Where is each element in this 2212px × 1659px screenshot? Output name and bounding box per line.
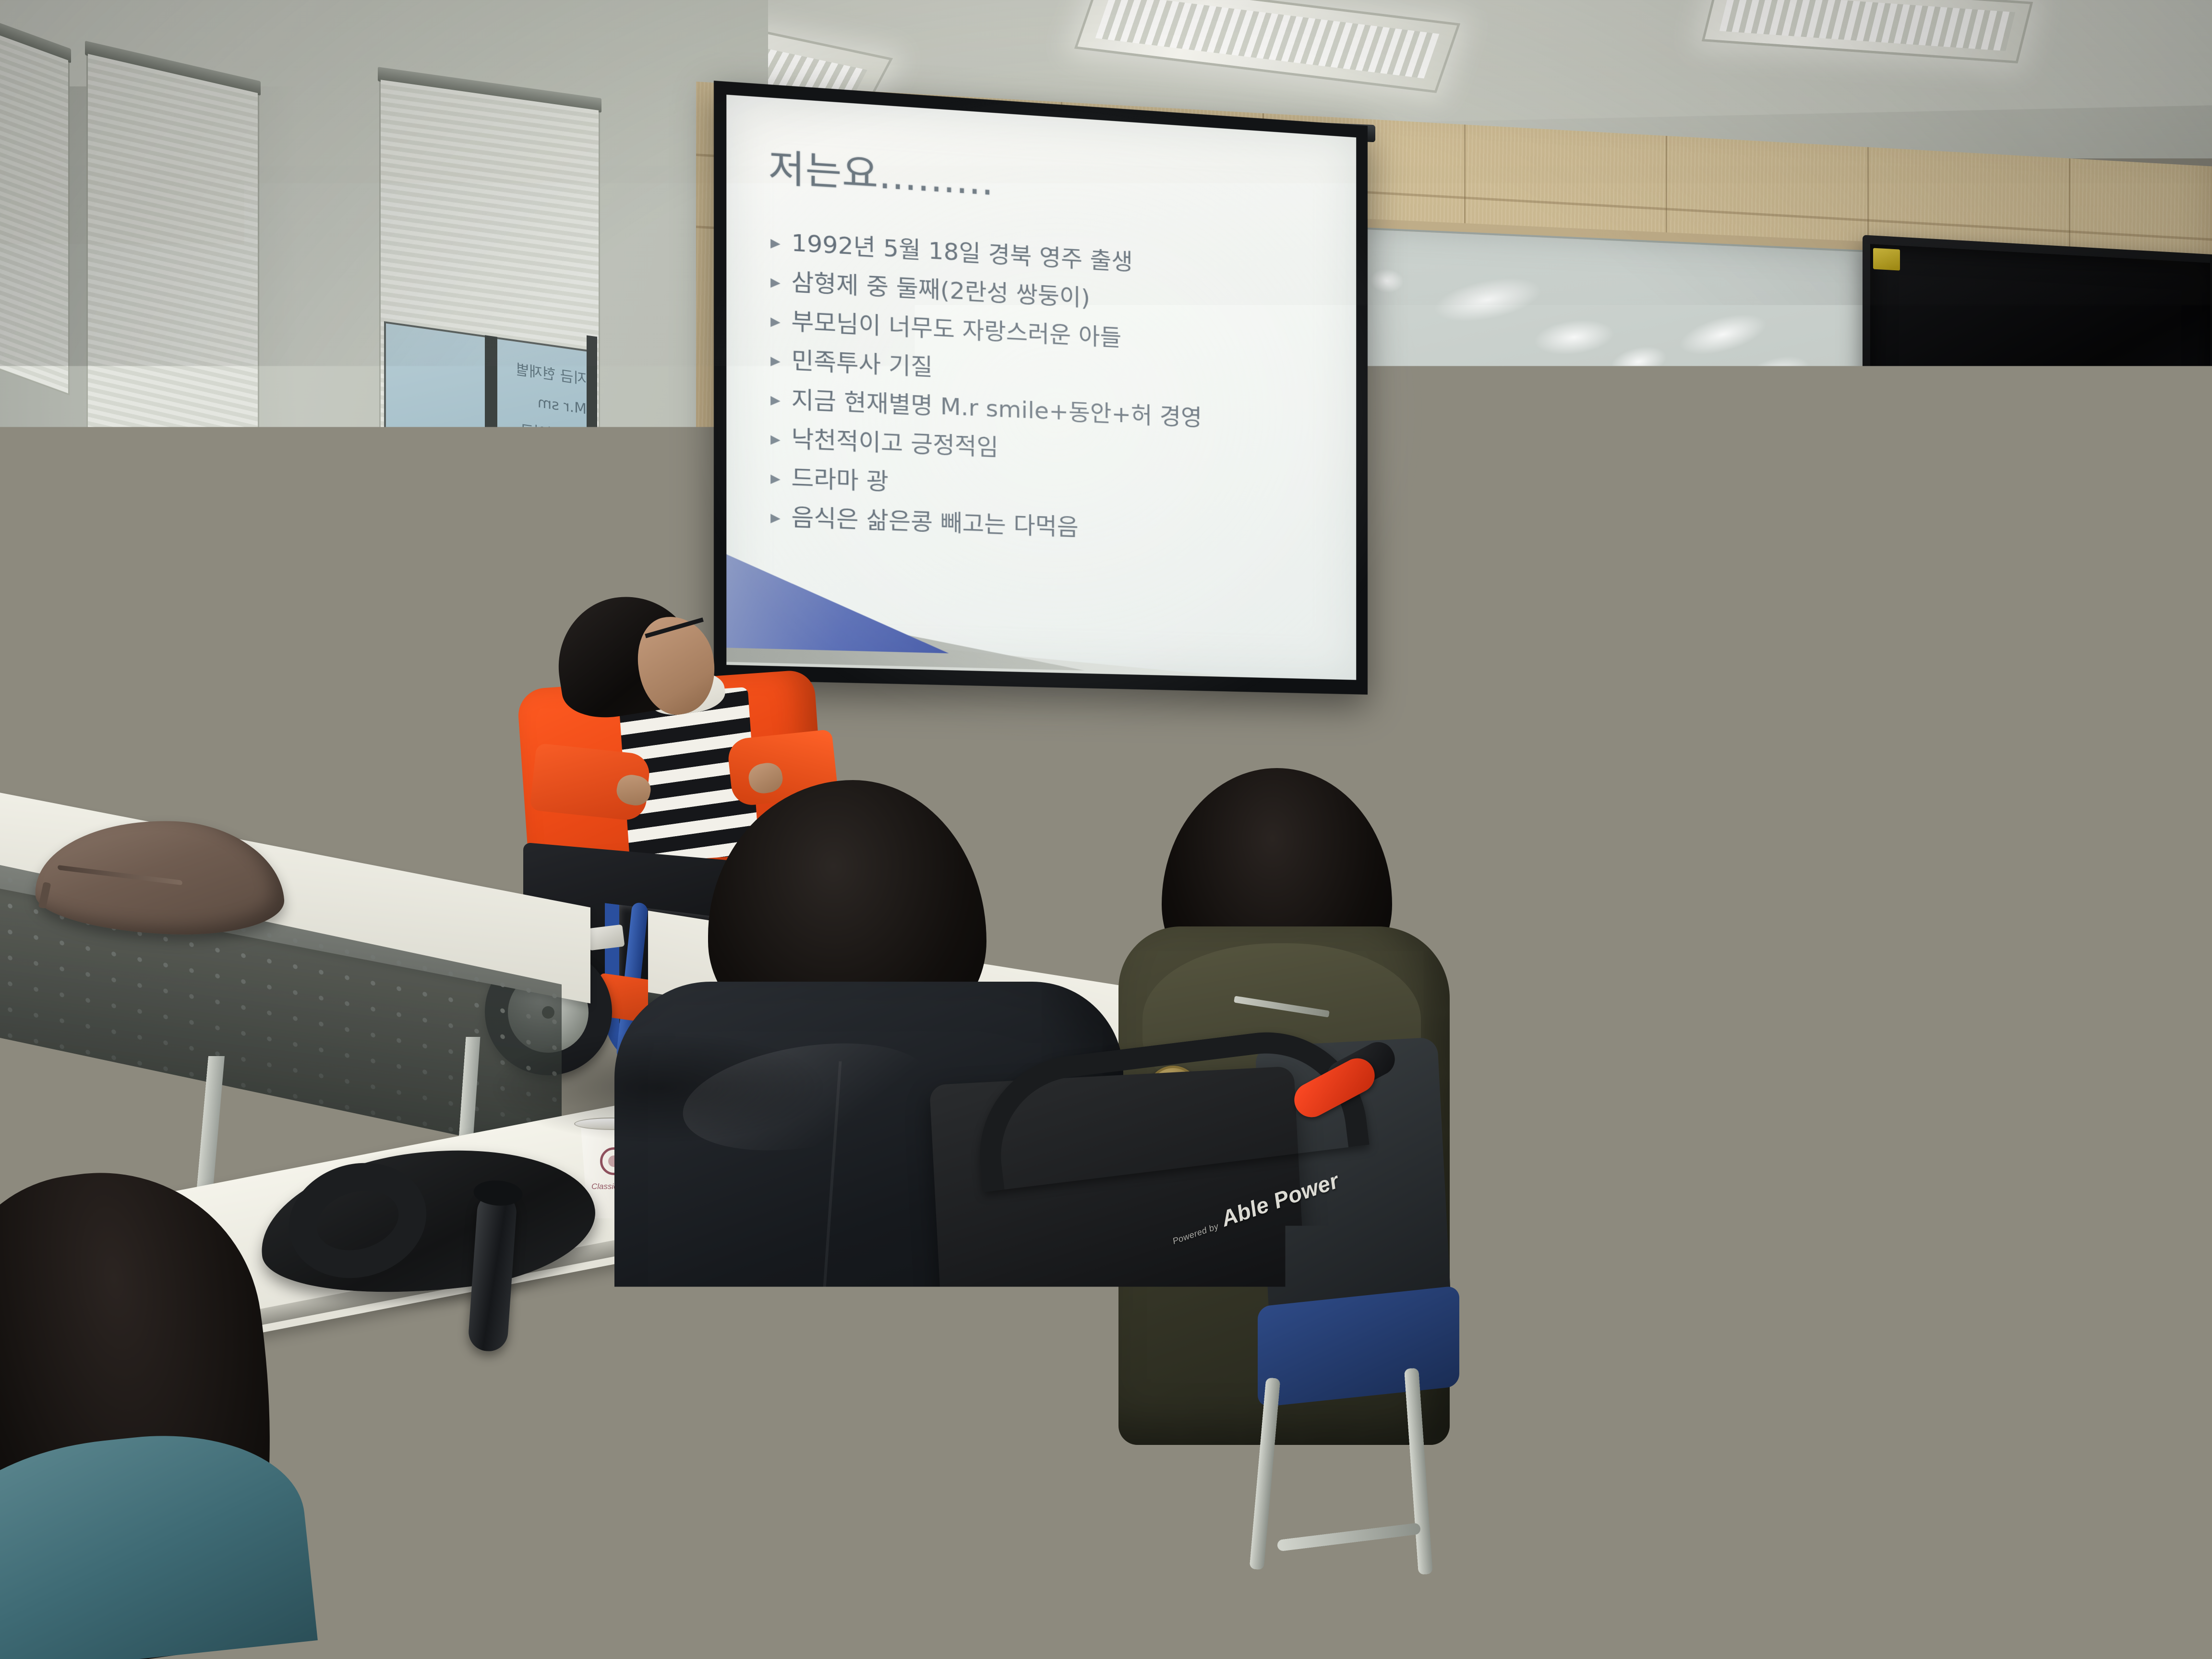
marker-red[interactable] (1411, 705, 1438, 714)
whiteboard-glare (1531, 315, 1617, 359)
ground-shadow (490, 1032, 826, 1142)
tv-brand-label: SAMSUNG (2026, 455, 2065, 465)
whiteboard (1339, 226, 1901, 722)
lectern-speaker-grille (1678, 910, 1810, 1038)
lectern-lock[interactable] (1900, 784, 1918, 803)
tv-energy-label (1873, 248, 1900, 271)
window-mullion (485, 335, 497, 606)
whiteboard-glare (1370, 268, 1404, 293)
classroom-photo: 지금 현재별 M.r sm 현재적이고 드라마 광 빼고는 음식은 삶 (0, 0, 2212, 1659)
cup-label: Classic (591, 1182, 618, 1191)
roller-blind (88, 54, 258, 522)
roller-blind (0, 29, 68, 393)
lectern[interactable] (1618, 666, 1983, 1226)
window-blind (0, 27, 70, 395)
power-outlet (974, 799, 999, 842)
window-mullion (587, 335, 597, 605)
facilitator-hair (2139, 386, 2212, 473)
lectern-lock[interactable] (1665, 757, 1683, 776)
facilitator-shoe (2048, 1281, 2205, 1354)
slide-title: 저는요......... (769, 137, 994, 206)
projection-screen: 저는요......... 1992년 5월 18일 경북 영주 출생 삼형제 중… (714, 81, 1368, 695)
lectern-speaker-grille (1817, 925, 1949, 1053)
window-blind (86, 52, 259, 524)
slide-surface: 저는요......... 1992년 5월 18일 경북 영주 출생 삼형제 중… (726, 95, 1356, 680)
wheelchair-knob[interactable] (912, 1498, 970, 1555)
marker-black[interactable] (1445, 707, 1475, 716)
whiteboard-reflection (1466, 503, 1591, 710)
marker-black[interactable] (1483, 709, 1511, 718)
slide-bullet-list: 1992년 5월 18일 경북 영주 출생 삼형제 중 둘째(2란성 쌍둥이) … (768, 222, 1333, 555)
ground-shadow (1176, 1464, 1512, 1589)
whiteboard-glare (1736, 349, 1815, 402)
wheelchair-sticker (587, 925, 625, 951)
whiteboard-glare (1430, 270, 1546, 329)
lectern-body (1631, 728, 1967, 1171)
ground-shadow (1632, 1176, 1997, 1282)
whiteboard-glare (1674, 306, 1771, 363)
